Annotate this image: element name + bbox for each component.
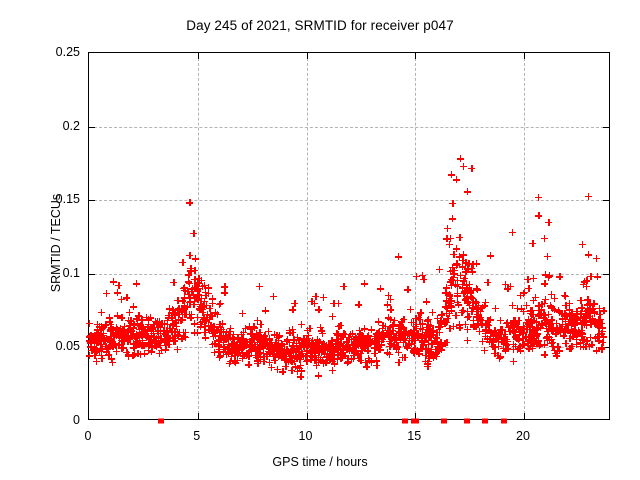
x-axis-tick-label: 0 (85, 429, 92, 443)
axis-labels-layer: 00.050.10.150.20.2505101520 (0, 0, 640, 480)
y-axis-tick-label: 0.1 (63, 266, 80, 280)
y-axis-tick-label: 0.25 (56, 45, 80, 59)
chart-figure: Day 245 of 2021, SRMTID for receiver p04… (0, 0, 640, 480)
x-axis-title: GPS time / hours (0, 455, 640, 469)
y-axis-tick-label: 0 (73, 413, 80, 427)
y-axis-title: SRMTID / TECUs (49, 143, 63, 343)
x-axis-tick-label: 15 (407, 429, 421, 443)
x-axis-tick-label: 5 (193, 429, 200, 443)
x-axis-tick-label: 10 (299, 429, 313, 443)
x-axis-tick-label: 20 (516, 429, 530, 443)
y-axis-tick-label: 0.2 (63, 119, 80, 133)
